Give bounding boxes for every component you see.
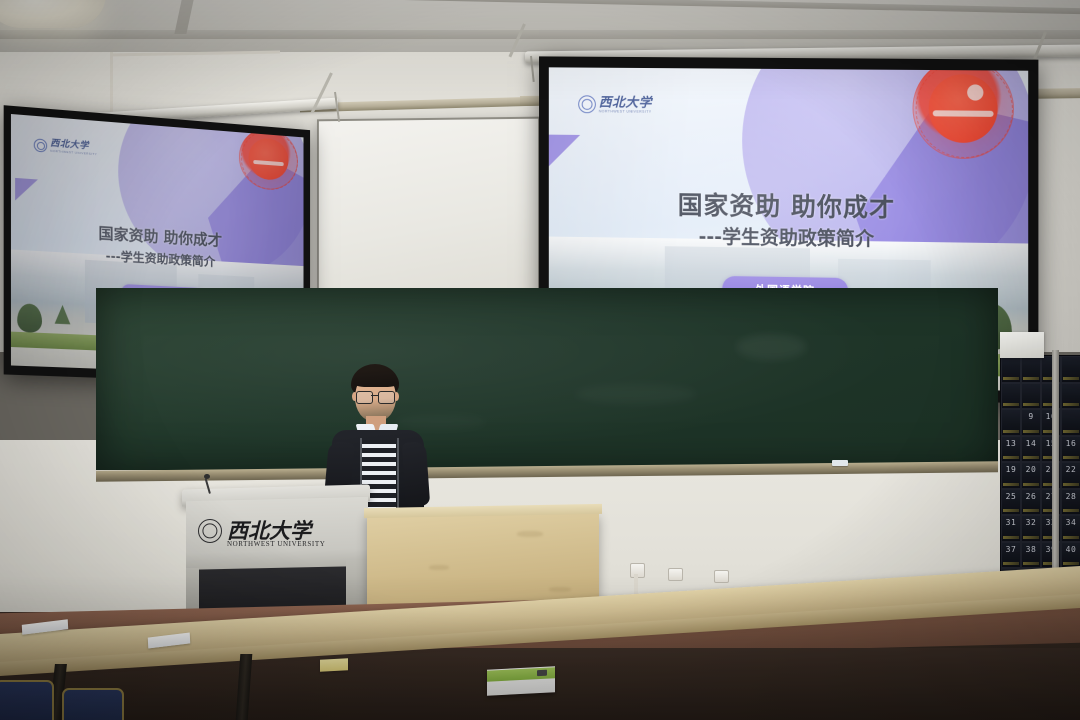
- seal-cut2-right: [967, 84, 983, 100]
- locker-number: 13: [1006, 437, 1017, 448]
- wall-outlet-1[interactable]: [668, 568, 683, 581]
- ceiling-beam-horizontal: [0, 30, 1080, 39]
- seal-inner-right: [929, 74, 998, 143]
- locker-number: 22: [1066, 463, 1077, 474]
- locker-number: 31: [1006, 516, 1017, 527]
- locker-number: 37: [1006, 543, 1017, 554]
- locker-cell[interactable]: [1001, 409, 1021, 436]
- locker-number: 19: [1006, 463, 1017, 474]
- podium-name-en: NORTHWEST UNIVERSITY: [227, 540, 325, 548]
- locker-cell-9[interactable]: 9: [1021, 409, 1041, 436]
- slide-triangle-left: [15, 178, 38, 202]
- locker-cell-31[interactable]: 31: [1001, 515, 1021, 542]
- wood-grain-1: [517, 531, 543, 537]
- locker-number: 34: [1066, 516, 1077, 527]
- locker-cell-19[interactable]: 19: [1001, 462, 1021, 489]
- presenter-arm-right: [402, 441, 430, 507]
- blackboard-smudge-1: [736, 334, 806, 360]
- locker-cell-26[interactable]: 26: [1021, 489, 1041, 516]
- logo-subtext-right: NORTHWEST UNIVERSITY: [599, 109, 652, 113]
- locker-cell-37[interactable]: 37: [1001, 542, 1021, 569]
- chalk-piece: [832, 460, 848, 466]
- chair-left: [0, 680, 54, 720]
- slide-university-logo-right: 西北大学 NORTHWEST UNIVERSITY: [578, 95, 652, 114]
- microphone-head-icon: [204, 474, 210, 479]
- locker-number: 9: [1028, 410, 1033, 421]
- sweater-stripe: [362, 462, 396, 466]
- notebook-label: [537, 670, 547, 677]
- sweater-stripe: [362, 480, 396, 484]
- presenter-glasses-left-lens: [356, 391, 373, 404]
- locker-cell[interactable]: [1001, 356, 1021, 383]
- locker-cell[interactable]: [1061, 409, 1080, 436]
- logo-calligraphy-right: 西北大学: [599, 96, 652, 109]
- sweater-stripe: [362, 444, 396, 448]
- locker-cell[interactable]: [1021, 356, 1041, 383]
- locker-number: 28: [1066, 490, 1077, 501]
- seal-cut-right: [933, 110, 994, 117]
- locker-number: 26: [1026, 490, 1037, 501]
- locker-cell-34[interactable]: 34: [1061, 515, 1080, 542]
- wall-display-panel: [1000, 332, 1044, 358]
- locker-cell-14[interactable]: 14: [1021, 436, 1041, 463]
- locker-number: 32: [1026, 516, 1037, 527]
- sticky-note: [320, 658, 348, 671]
- presenter-jacket-zip-right: [397, 438, 399, 516]
- chair-right: [62, 688, 124, 720]
- locker-cell-16[interactable]: 16: [1061, 436, 1080, 463]
- logo-ring-icon-left: [34, 138, 47, 152]
- wood-grain-2: [429, 565, 449, 570]
- locker-cell[interactable]: [1021, 383, 1041, 410]
- wall-conduit: [110, 52, 113, 114]
- podium-name-cn: 西北大学: [227, 520, 311, 542]
- slide-tree-cone-left: [55, 305, 71, 325]
- podium-seal-icon: [198, 519, 222, 543]
- locker-cell-38[interactable]: 38: [1021, 542, 1041, 569]
- locker-number: 38: [1026, 543, 1037, 554]
- blackboard-smudge-2: [576, 384, 696, 404]
- locker-number: 20: [1026, 463, 1037, 474]
- locker-cell-20[interactable]: 20: [1021, 462, 1041, 489]
- sweater-stripe: [362, 453, 396, 457]
- wall-outlet-2[interactable]: [714, 570, 729, 583]
- sweater-stripe: [362, 471, 396, 475]
- locker-number: 40: [1066, 543, 1077, 554]
- locker-cell-32[interactable]: 32: [1021, 515, 1041, 542]
- notebook: [487, 666, 555, 696]
- logo-ring-icon-right: [578, 95, 596, 113]
- locker-cell-25[interactable]: 25: [1001, 489, 1021, 516]
- slide-triangle-right: [549, 135, 580, 169]
- wood-grain-3: [549, 587, 571, 592]
- locker-number: 25: [1006, 490, 1017, 501]
- locker-cell-22[interactable]: 22: [1061, 462, 1080, 489]
- locker-number: 16: [1066, 437, 1077, 448]
- locker-cell[interactable]: [1061, 383, 1080, 410]
- locker-number: 14: [1026, 437, 1037, 448]
- blackboard-left-occlusion: [96, 288, 326, 384]
- lecture-hall-photo: 西北大学 NORTHWEST UNIVERSITY 国家资助 助你成才 ---学…: [0, 0, 1080, 720]
- locker-cell-28[interactable]: 28: [1061, 489, 1080, 516]
- locker-cell-40[interactable]: 40: [1061, 542, 1080, 569]
- locker-cell-13[interactable]: 13: [1001, 436, 1021, 463]
- locker-cell[interactable]: [1061, 356, 1080, 383]
- presenter-glasses-right-lens: [378, 391, 395, 404]
- podium-university-mark: 西北大学 NORTHWEST UNIVERSITY: [198, 519, 311, 543]
- locker-cell[interactable]: [1001, 383, 1021, 410]
- presenter-glasses-bridge: [371, 395, 378, 396]
- whiteboard: [317, 117, 540, 314]
- slide-tree-left: [17, 303, 42, 333]
